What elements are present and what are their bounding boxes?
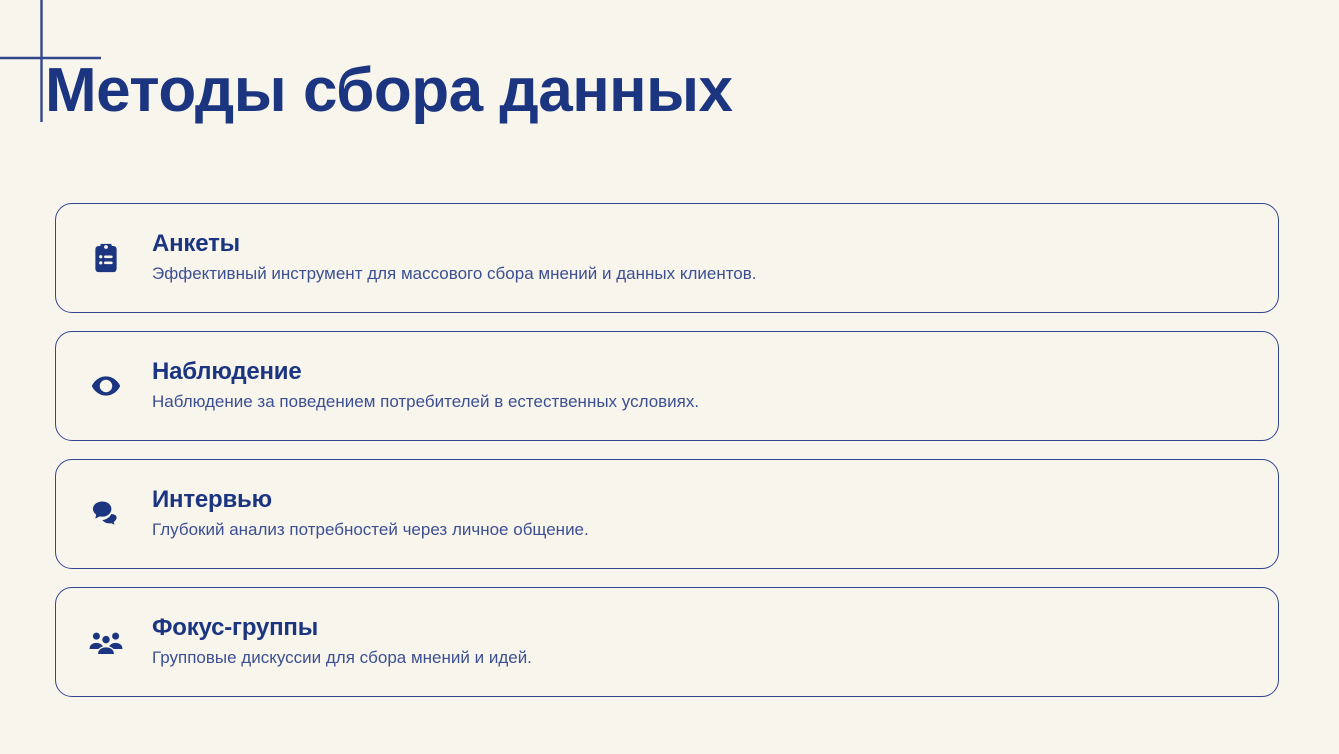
method-card-questionnaires[interactable]: Анкеты Эффективный инструмент для массов… xyxy=(55,203,1279,313)
method-description: Эффективный инструмент для массового сбо… xyxy=(152,263,1252,286)
method-heading: Фокус-группы xyxy=(152,614,1252,643)
method-description: Наблюдение за поведением потребителей в … xyxy=(152,391,1252,414)
method-card-interview[interactable]: Интервью Глубокий анализ потребностей че… xyxy=(55,459,1279,569)
method-heading: Интервью xyxy=(152,486,1252,515)
chat-bubbles-icon xyxy=(80,488,132,540)
method-description: Глубокий анализ потребностей через лично… xyxy=(152,519,1252,542)
methods-list: Анкеты Эффективный инструмент для массов… xyxy=(55,203,1279,697)
method-card-body: Анкеты Эффективный инструмент для массов… xyxy=(152,230,1252,286)
method-description: Групповые дискуссии для сбора мнений и и… xyxy=(152,647,1252,670)
method-heading: Наблюдение xyxy=(152,358,1252,387)
method-card-body: Фокус-группы Групповые дискуссии для сбо… xyxy=(152,614,1252,670)
method-card-body: Интервью Глубокий анализ потребностей че… xyxy=(152,486,1252,542)
people-group-icon xyxy=(80,616,132,668)
method-card-focus-groups[interactable]: Фокус-группы Групповые дискуссии для сбо… xyxy=(55,587,1279,697)
method-card-observation[interactable]: Наблюдение Наблюдение за поведением потр… xyxy=(55,331,1279,441)
method-heading: Анкеты xyxy=(152,230,1252,259)
method-card-body: Наблюдение Наблюдение за поведением потр… xyxy=(152,358,1252,414)
page-title: Методы сбора данных xyxy=(45,58,733,123)
clipboard-list-icon xyxy=(80,232,132,284)
eye-icon xyxy=(80,360,132,412)
